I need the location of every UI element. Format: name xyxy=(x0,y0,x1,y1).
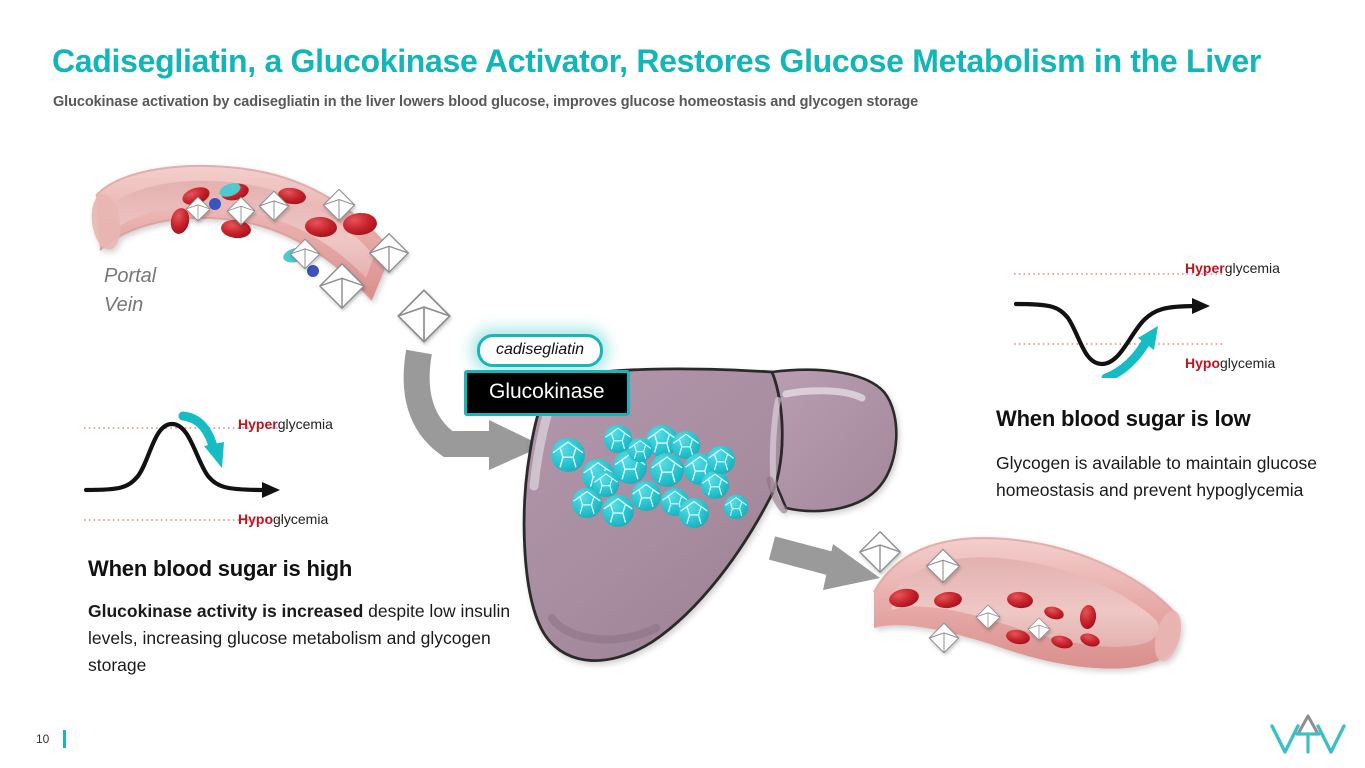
hyper-bold: Hyper xyxy=(1185,260,1225,276)
heading-blood-sugar-high: When blood sugar is high xyxy=(88,556,548,582)
page-number: 10 xyxy=(36,732,49,746)
hypo-rest: glycemia xyxy=(1220,355,1275,371)
page-number-accent-bar xyxy=(63,730,66,748)
glucose-curve xyxy=(1016,304,1196,364)
glucose-crystals-right xyxy=(860,532,1050,653)
glucose-crystals-left xyxy=(186,189,450,341)
body-blood-sugar-high: Glucokinase activity is increased despit… xyxy=(88,598,548,679)
portal-vein-label-line1: Portal xyxy=(104,262,156,291)
glucokinase-badge: Glucokinase xyxy=(464,370,630,416)
hypoglycemia-label: Hypoglycemia xyxy=(238,511,328,527)
page-subtitle: Glucokinase activation by cadisegliatin … xyxy=(53,94,1343,110)
chart-blood-glucose-low: Hyperglycemia Hypoglycemia xyxy=(1010,248,1320,378)
red-blood-cells-left xyxy=(168,181,377,277)
chart-blood-glucose-high: Hyperglycemia Hypoglycemia xyxy=(80,398,410,538)
hyper-bold: Hyper xyxy=(238,416,278,432)
vtv-logo xyxy=(1268,712,1348,756)
body-blood-sugar-low: Glycogen is available to maintain glucos… xyxy=(996,450,1346,504)
glycogen-granules xyxy=(551,425,748,528)
hyperglycemia-label: Hyperglycemia xyxy=(238,416,333,432)
cadisegliatin-badge: cadisegliatin xyxy=(477,334,603,367)
slide: Cadisegliatin, a Glucokinase Activator, … xyxy=(0,0,1365,768)
hypo-bold: Hypo xyxy=(1185,355,1220,371)
hypo-bold: Hypo xyxy=(238,511,273,527)
red-blood-cells-right xyxy=(888,587,1102,651)
hyper-rest: glycemia xyxy=(278,416,333,432)
portal-vein-label: Portal Vein xyxy=(104,262,156,320)
text-block-high: When blood sugar is high Glucokinase act… xyxy=(88,556,548,679)
hypo-rest: glycemia xyxy=(273,511,328,527)
hyper-rest: glycemia xyxy=(1225,260,1280,276)
hyperglycemia-label: Hyperglycemia xyxy=(1185,260,1280,276)
arrow-liver-to-vessel xyxy=(772,544,880,590)
heading-blood-sugar-low: When blood sugar is low xyxy=(996,406,1346,432)
hypoglycemia-label: Hypoglycemia xyxy=(1185,355,1275,371)
text-block-low: When blood sugar is low Glycogen is avai… xyxy=(996,406,1346,504)
body-high-bold: Glucokinase activity is increased xyxy=(88,601,363,621)
portal-vein-label-line2: Vein xyxy=(104,291,156,320)
page-title: Cadisegliatin, a Glucokinase Activator, … xyxy=(52,44,1342,80)
glucose-curve xyxy=(86,424,266,490)
